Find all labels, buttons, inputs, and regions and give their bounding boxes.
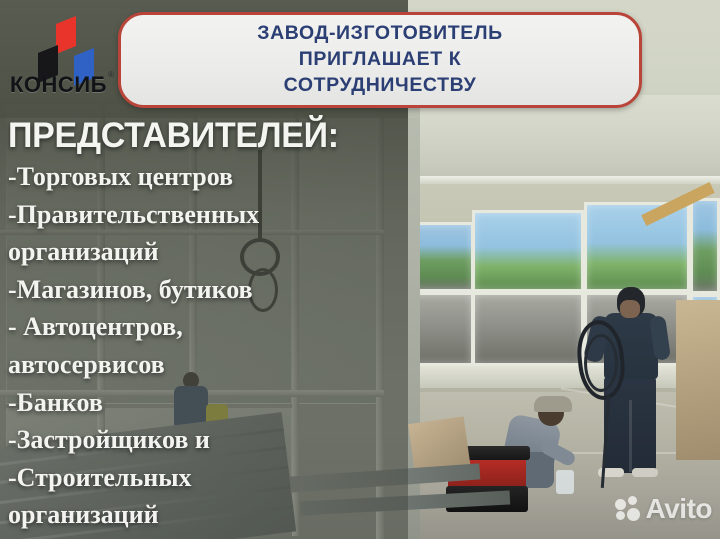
registered-trademark-icon: ® — [108, 70, 114, 79]
banner-text: ЗАВОД-ИЗГОТОВИТЕЛЬ ПРИГЛАШАЕТ К СОТРУДНИ… — [243, 21, 517, 99]
list-item: автосервисов — [8, 346, 408, 384]
advertisement-poster: КОНСИБ ® ЗАВОД-ИЗГОТОВИТЕЛЬ ПРИГЛАШАЕТ К… — [0, 0, 720, 539]
logo-wordmark: КОНСИБ — [10, 72, 107, 98]
list-item: организаций — [8, 496, 408, 534]
list-item: - Автоцентров, — [8, 308, 408, 346]
list-item: -Строительных — [8, 459, 408, 497]
avito-logo-icon — [615, 496, 641, 522]
page-title: ПРЕДСТАВИТЕЛЕЙ: — [8, 116, 339, 156]
list-item: -Правительственных — [8, 196, 408, 234]
list-item: -Магазинов, бутиков — [8, 271, 408, 309]
avito-wordmark: Avito — [646, 493, 712, 525]
list-item: организаций — [8, 233, 408, 271]
headline-banner: ЗАВОД-ИЗГОТОВИТЕЛЬ ПРИГЛАШАЕТ К СОТРУДНИ… — [118, 12, 642, 108]
list-item: -Застройщиков и — [8, 421, 408, 459]
list-item: -Банков — [8, 384, 408, 422]
list-item: -Торговых центров — [8, 158, 408, 196]
logo-diamond-red-icon — [56, 16, 76, 54]
representatives-list: -Торговых центров-Правительственныхорган… — [8, 158, 408, 539]
avito-watermark: Avito — [615, 493, 712, 525]
konsib-logo: КОНСИБ ® — [8, 16, 118, 92]
list-item: -Дилеров и других — [8, 534, 408, 539]
